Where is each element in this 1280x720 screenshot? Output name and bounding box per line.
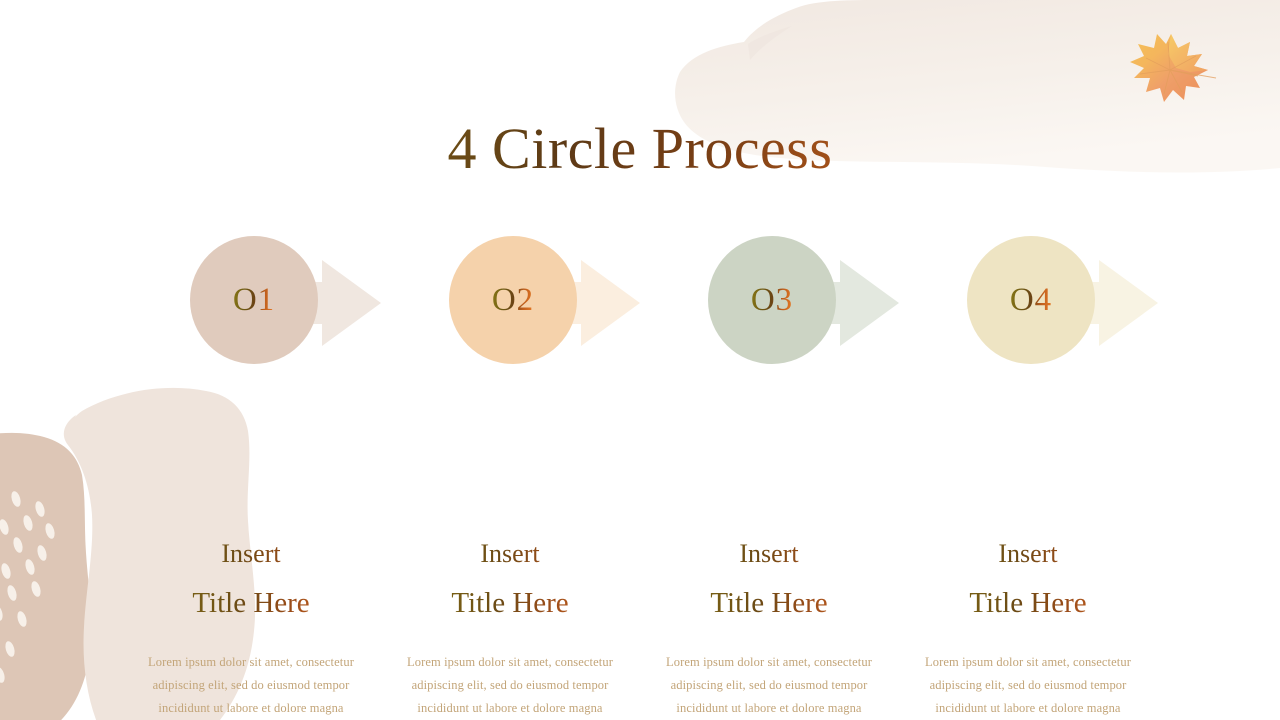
step-2-body-text: Lorem ipsum dolor sit amet, consectetur … <box>400 651 620 720</box>
process-step-2[interactable]: O2 Insert Title Here Lorem ipsum dolor s… <box>380 236 640 656</box>
maple-leaf-icon <box>1124 28 1220 112</box>
process-step-4[interactable]: O4 Insert Title Here Lorem ipsum dolor s… <box>898 236 1158 656</box>
slide-canvas: 4 Circle Process O1 Insert Title Here Lo… <box>0 0 1280 720</box>
step-3-number: O3 <box>751 282 793 319</box>
page-title: 4 Circle Process <box>0 117 1280 181</box>
step-3-heading-line-1: Insert <box>639 541 899 567</box>
process-step-1[interactable]: O1 Insert Title Here Lorem ipsum dolor s… <box>121 236 381 656</box>
process-step-3[interactable]: O3 Insert Title Here Lorem ipsum dolor s… <box>639 236 899 656</box>
step-4-body-text: Lorem ipsum dolor sit amet, consectetur … <box>918 651 1138 720</box>
step-1-heading-line-2: Title Here <box>121 589 381 618</box>
step-1-graphic: O1 <box>121 236 381 371</box>
step-3-body-text: Lorem ipsum dolor sit amet, consectetur … <box>659 651 879 720</box>
step-2-heading-line-1: Insert <box>380 541 640 567</box>
step-1-number: O1 <box>233 282 275 319</box>
step-4-number: O4 <box>1010 282 1052 319</box>
step-2-circle[interactable]: O2 <box>449 236 577 364</box>
step-2-number: O2 <box>492 282 534 319</box>
step-4-circle[interactable]: O4 <box>967 236 1095 364</box>
step-4-heading-line-2: Title Here <box>898 589 1158 618</box>
step-2-graphic: O2 <box>380 236 640 371</box>
process-steps: O1 Insert Title Here Lorem ipsum dolor s… <box>0 236 1280 656</box>
step-1-heading-line-1: Insert <box>121 541 381 567</box>
step-4-graphic: O4 <box>898 236 1158 371</box>
step-2-heading-line-2: Title Here <box>380 589 640 618</box>
step-3-graphic: O3 <box>639 236 899 371</box>
step-1-body-text: Lorem ipsum dolor sit amet, consectetur … <box>141 651 361 720</box>
step-1-circle[interactable]: O1 <box>190 236 318 364</box>
step-3-circle[interactable]: O3 <box>708 236 836 364</box>
step-4-heading-line-1: Insert <box>898 541 1158 567</box>
step-3-heading-line-2: Title Here <box>639 589 899 618</box>
